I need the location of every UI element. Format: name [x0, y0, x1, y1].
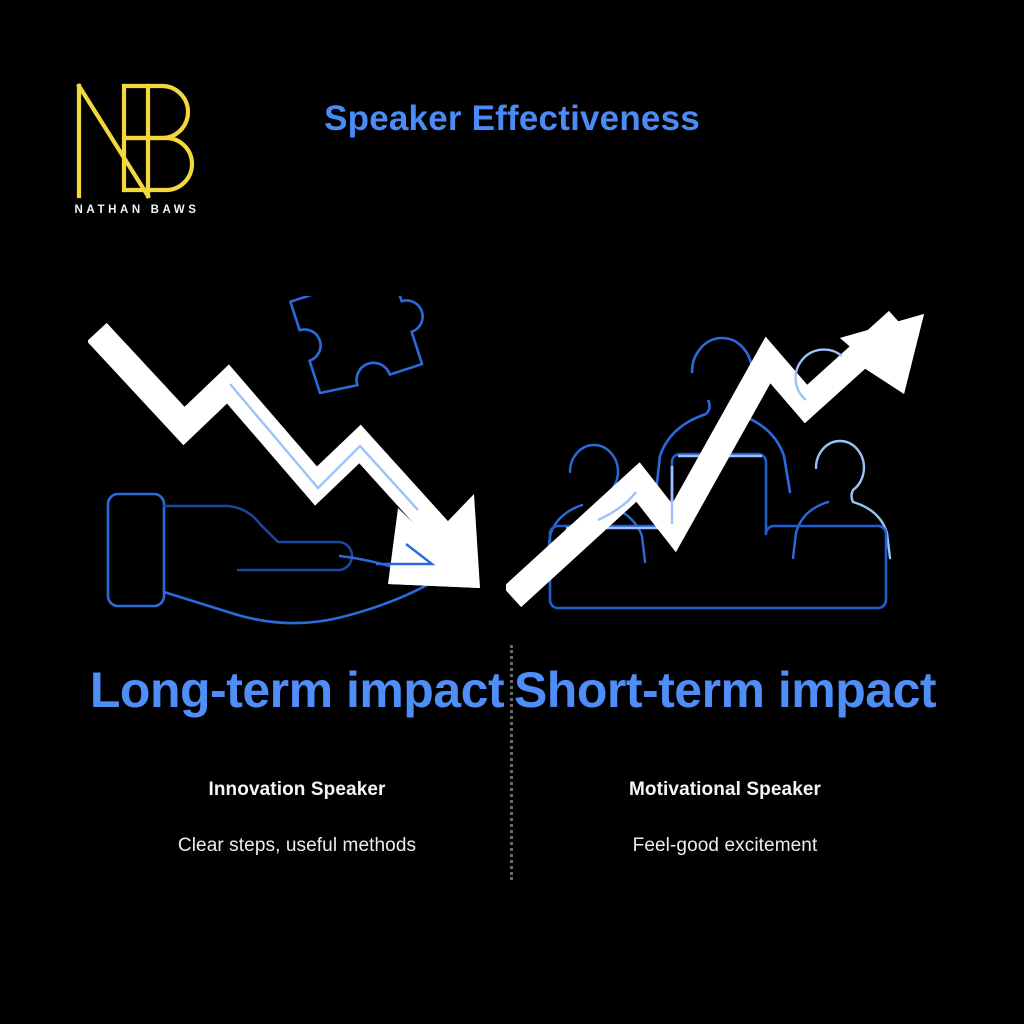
column-description-short-term: Feel-good excitement — [490, 835, 960, 857]
column-subtitle-long-term: Innovation Speaker — [62, 779, 532, 801]
open-hand-icon — [108, 494, 432, 623]
nb-monogram-icon — [62, 78, 212, 200]
column-subtitle-short-term: Motivational Speaker — [490, 779, 960, 801]
upward-zigzag-arrow-icon — [522, 314, 924, 588]
column-description-long-term: Clear steps, useful methods — [62, 835, 532, 857]
brand-wordmark: NATHAN BAWS — [62, 204, 212, 216]
illustration-short-term-impact — [506, 296, 946, 626]
page-title: Speaker Effectiveness — [0, 99, 1024, 139]
puzzle-piece-icon — [285, 296, 437, 397]
infographic-canvas: NATHAN BAWS Speaker Effectiveness — [0, 0, 1024, 1024]
column-long-term: Long-term impact Innovation Speaker Clea… — [62, 660, 532, 857]
downward-zigzag-arrow-icon — [106, 342, 480, 588]
column-heading-long-term: Long-term impact — [62, 660, 532, 721]
person-figure-right-icon — [793, 441, 890, 558]
illustration-long-term-impact — [88, 296, 528, 626]
column-heading-short-term: Short-term impact — [490, 660, 960, 721]
column-short-term: Short-term impact Motivational Speaker F… — [490, 660, 960, 857]
